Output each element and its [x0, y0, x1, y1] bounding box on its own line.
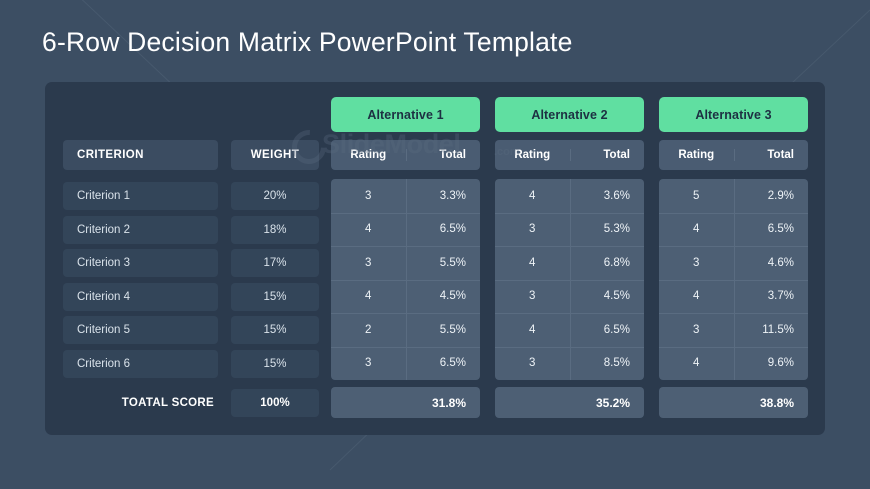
alternative-header-label: Alternative 3 [695, 108, 771, 122]
rating-cell: 3 [495, 290, 570, 302]
criterion-cell: Criterion 4 [63, 283, 218, 311]
column-header-rating: Rating [331, 149, 406, 161]
rating-cell: 4 [659, 357, 734, 369]
table-row: 35.3% [495, 213, 644, 247]
table-row: 46.5% [495, 313, 644, 347]
alternative-header-2[interactable]: Alternative 2 [495, 97, 644, 132]
table-row: 49.6% [659, 347, 808, 381]
data-block-alternative-1: 33.3%46.5%35.5%44.5%25.5%36.5% [331, 179, 480, 380]
rating-cell: 3 [659, 324, 734, 336]
criterion-cell: Criterion 2 [63, 216, 218, 244]
rating-cell: 3 [495, 223, 570, 235]
total-score-label: TOATAL SCORE [63, 389, 218, 417]
table-row: 36.5% [331, 347, 480, 381]
table-row: 33.3% [331, 179, 480, 213]
weight-cell: 15% [231, 316, 319, 344]
rating-cell: 4 [331, 223, 406, 235]
total-cell: 3.6% [570, 190, 645, 202]
subheader-alternative-3: Rating Total [659, 140, 808, 170]
criterion-cell: Criterion 5 [63, 316, 218, 344]
column-header-total: Total [734, 149, 809, 161]
total-score-alternative-3: 38.8% [659, 387, 808, 418]
weight-cell: 20% [231, 182, 319, 210]
table-row: 46.8% [495, 246, 644, 280]
criterion-cell: Criterion 1 [63, 182, 218, 210]
total-score-alternative-1: 31.8% [331, 387, 480, 418]
table-row: 46.5% [331, 213, 480, 247]
weight-cell: 15% [231, 350, 319, 378]
rating-cell: 3 [331, 257, 406, 269]
total-cell: 8.5% [570, 357, 645, 369]
total-cell: 6.8% [570, 257, 645, 269]
total-cell: 4.5% [406, 290, 481, 302]
weight-cell: 18% [231, 216, 319, 244]
total-cell: 11.5% [734, 324, 809, 336]
total-cell: 4.6% [734, 257, 809, 269]
table-row: 43.7% [659, 280, 808, 314]
table-row: 43.6% [495, 179, 644, 213]
table-row: 44.5% [331, 280, 480, 314]
table-row: 35.5% [331, 246, 480, 280]
column-header-weight: WEIGHT [231, 140, 319, 170]
total-cell: 6.5% [570, 324, 645, 336]
rating-cell: 4 [495, 324, 570, 336]
rating-cell: 4 [495, 257, 570, 269]
rating-cell: 3 [659, 257, 734, 269]
data-block-alternative-2: 43.6%35.3%46.8%34.5%46.5%38.5% [495, 179, 644, 380]
total-cell: 6.5% [734, 223, 809, 235]
rating-cell: 4 [659, 223, 734, 235]
criterion-cell: Criterion 6 [63, 350, 218, 378]
table-row: 34.6% [659, 246, 808, 280]
total-cell: 5.3% [570, 223, 645, 235]
table-row: 311.5% [659, 313, 808, 347]
table-row: 34.5% [495, 280, 644, 314]
total-score-weight: 100% [231, 389, 319, 417]
total-cell: 6.5% [406, 357, 481, 369]
rating-cell: 4 [331, 290, 406, 302]
rating-cell: 3 [331, 357, 406, 369]
table-row: 46.5% [659, 213, 808, 247]
criterion-cell: Criterion 3 [63, 249, 218, 277]
column-header-total: Total [406, 149, 481, 161]
total-cell: 3.3% [406, 190, 481, 202]
alternative-header-label: Alternative 1 [367, 108, 443, 122]
rating-cell: 4 [659, 290, 734, 302]
alternative-header-1[interactable]: Alternative 1 [331, 97, 480, 132]
column-header-criterion: CRITERION [63, 140, 218, 170]
rating-cell: 4 [495, 190, 570, 202]
table-row: 25.5% [331, 313, 480, 347]
subheader-alternative-1: Rating Total [331, 140, 480, 170]
rating-cell: 3 [495, 357, 570, 369]
decision-matrix-panel: Alternative 1 Alternative 2 Alternative … [45, 82, 825, 435]
column-header-rating: Rating [495, 149, 570, 161]
rating-cell: 3 [331, 190, 406, 202]
weight-cell: 15% [231, 283, 319, 311]
alternative-header-3[interactable]: Alternative 3 [659, 97, 808, 132]
data-block-alternative-3: 52.9%46.5%34.6%43.7%311.5%49.6% [659, 179, 808, 380]
total-cell: 5.5% [406, 257, 481, 269]
table-row: 38.5% [495, 347, 644, 381]
column-header-rating: Rating [659, 149, 734, 161]
rating-cell: 5 [659, 190, 734, 202]
total-cell: 5.5% [406, 324, 481, 336]
alternative-header-label: Alternative 2 [531, 108, 607, 122]
column-header-total: Total [570, 149, 645, 161]
total-cell: 4.5% [570, 290, 645, 302]
table-row: 52.9% [659, 179, 808, 213]
total-score-alternative-2: 35.2% [495, 387, 644, 418]
total-cell: 3.7% [734, 290, 809, 302]
total-cell: 2.9% [734, 190, 809, 202]
total-cell: 9.6% [734, 357, 809, 369]
rating-cell: 2 [331, 324, 406, 336]
page-title: 6-Row Decision Matrix PowerPoint Templat… [42, 27, 573, 58]
weight-cell: 17% [231, 249, 319, 277]
total-cell: 6.5% [406, 223, 481, 235]
subheader-alternative-2: Rating Total [495, 140, 644, 170]
